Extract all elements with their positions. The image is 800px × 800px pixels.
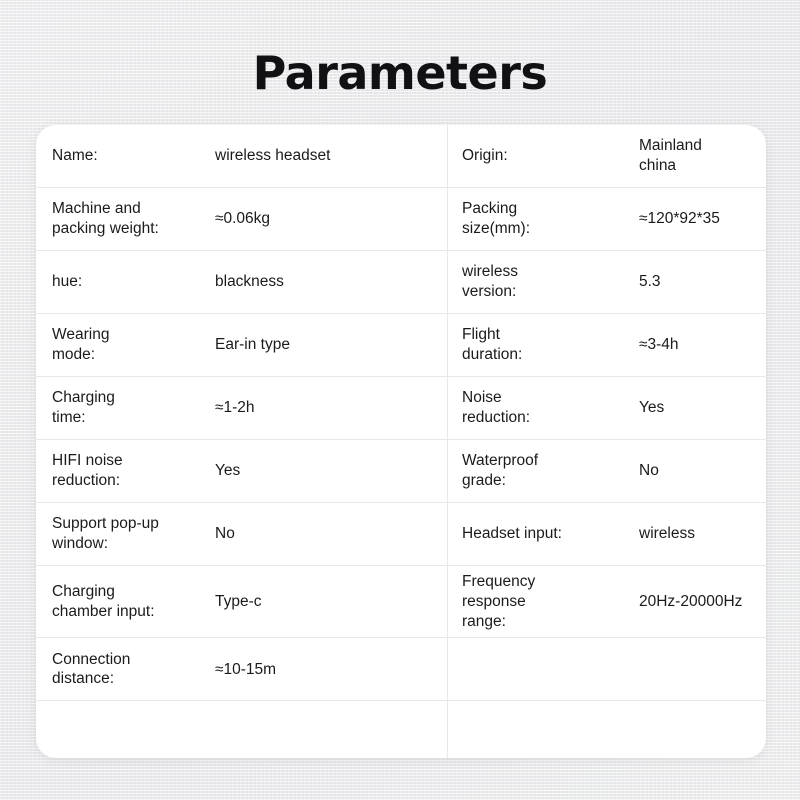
table-row: hue: blackness wireless version: 5.3 [36, 251, 766, 314]
spec-value: Yes [639, 398, 664, 418]
table-cell-right: Flight duration: ≈3-4h [448, 314, 766, 376]
table-cell-right: Waterproof grade: No [448, 440, 766, 502]
table-cell-left: Charging time: ≈1-2h [36, 377, 448, 439]
spec-label: hue: [52, 272, 172, 292]
spec-label: Packing size(mm): [462, 199, 582, 239]
spec-label: Machine and packing weight: [52, 199, 172, 239]
table-cell-right: Noise reduction: Yes [448, 377, 766, 439]
table-cell-right: wireless version: 5.3 [448, 251, 766, 313]
table-cell-right: Frequency response range: 20Hz-20000Hz [448, 566, 766, 637]
spec-label: HIFI noise reduction: [52, 451, 172, 491]
table-row: Machine and packing weight: ≈0.06kg Pack… [36, 188, 766, 251]
spec-value: ≈0.06kg [215, 209, 270, 229]
spec-value: Mainland china [639, 136, 702, 176]
spec-value: Ear-in type [215, 335, 290, 355]
table-cell-left: Name: wireless headset [36, 125, 448, 187]
spec-value: blackness [215, 272, 284, 292]
spec-label: Waterproof grade: [462, 451, 582, 491]
spec-value: ≈1-2h [215, 398, 255, 418]
specifications-card: Name: wireless headset Origin: Mainland … [36, 125, 766, 758]
spec-label: Charging chamber input: [52, 582, 172, 622]
table-cell-right: Packing size(mm): ≈120*92*35 [448, 188, 766, 250]
spec-label: Name: [52, 146, 172, 166]
page-title: Parameters [0, 46, 800, 100]
table-cell-left: Machine and packing weight: ≈0.06kg [36, 188, 448, 250]
table-cell-left: hue: blackness [36, 251, 448, 313]
spec-value: wireless headset [215, 146, 330, 166]
spec-value: ≈120*92*35 [639, 209, 720, 229]
table-cell-left: Connection distance: ≈10-15m [36, 638, 448, 700]
table-cell-left: Wearing mode: Ear-in type [36, 314, 448, 376]
spec-value: Type-c [215, 592, 262, 612]
table-row: Charging time: ≈1-2h Noise reduction: Ye… [36, 377, 766, 440]
table-cell-right [448, 638, 766, 700]
spec-label: Noise reduction: [462, 388, 582, 428]
table-row: Wearing mode: Ear-in type Flight duratio… [36, 314, 766, 377]
table-cell-right [448, 701, 766, 758]
spec-value: Yes [215, 461, 240, 481]
spec-label: Support pop-up window: [52, 514, 172, 554]
table-cell-right: Headset input: wireless [448, 503, 766, 565]
spec-label: Headset input: [462, 524, 582, 544]
spec-value: No [639, 461, 659, 481]
spec-label: Frequency response range: [462, 572, 582, 631]
table-cell-left [36, 701, 448, 758]
table-cell-left: Support pop-up window: No [36, 503, 448, 565]
table-cell-left: HIFI noise reduction: Yes [36, 440, 448, 502]
spec-value: 5.3 [639, 272, 661, 292]
spec-label: Origin: [462, 146, 582, 166]
spec-label: Charging time: [52, 388, 172, 428]
spec-value: ≈3-4h [639, 335, 679, 355]
spec-value: ≈10-15m [215, 660, 276, 680]
spec-label: Connection distance: [52, 650, 172, 690]
table-row [36, 701, 766, 758]
spec-label: Flight duration: [462, 325, 582, 365]
table-cell-left: Charging chamber input: Type-c [36, 566, 448, 637]
table-row: Support pop-up window: No Headset input:… [36, 503, 766, 566]
table-cell-right: Origin: Mainland china [448, 125, 766, 187]
table-row: Connection distance: ≈10-15m [36, 638, 766, 701]
table-row: Charging chamber input: Type-c Frequency… [36, 566, 766, 638]
spec-label: Wearing mode: [52, 325, 172, 365]
spec-value: 20Hz-20000Hz [639, 592, 742, 612]
table-row: HIFI noise reduction: Yes Waterproof gra… [36, 440, 766, 503]
spec-value: No [215, 524, 235, 544]
table-row: Name: wireless headset Origin: Mainland … [36, 125, 766, 188]
spec-value: wireless [639, 524, 695, 544]
spec-label: wireless version: [462, 262, 582, 302]
